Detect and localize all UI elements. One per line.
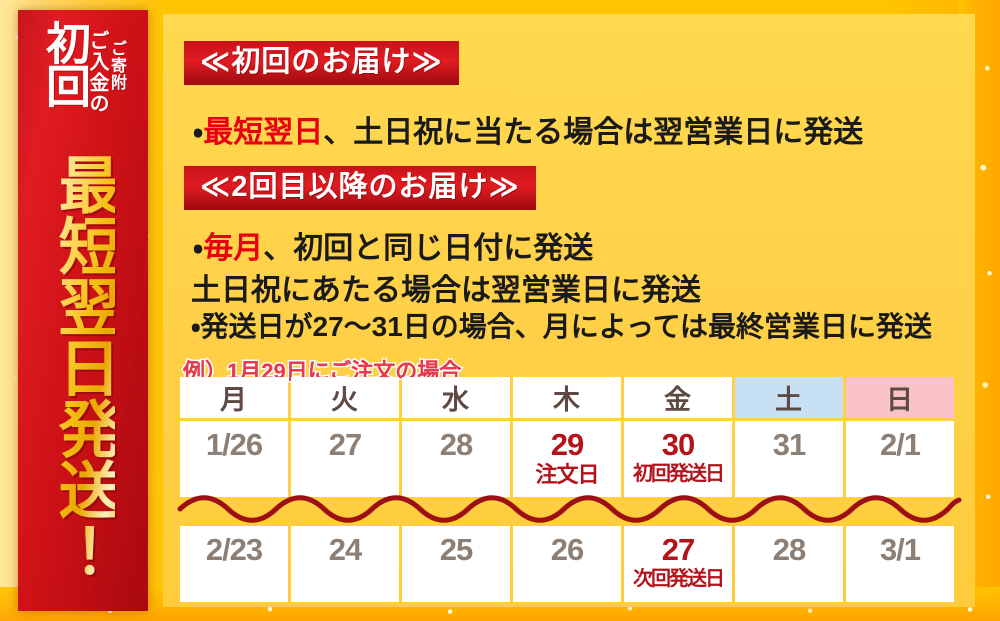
bullet-dot: ・ — [193, 116, 203, 149]
calendar-day-note: 初回発送日 — [633, 463, 723, 485]
calendar-day-number: 28 — [440, 427, 472, 462]
calendar-day-number: 31 — [773, 427, 805, 462]
calendar-day-number: 25 — [440, 532, 472, 567]
calendar-day-number: 2/1 — [880, 427, 920, 462]
calendar-day-number: 27 — [329, 427, 361, 462]
calendar-day-number: 27 — [662, 532, 694, 567]
calendar-day-number: 28 — [773, 532, 805, 567]
bullet-dot: ・ — [193, 232, 203, 265]
calendar-weekday-header: 火 — [291, 377, 399, 418]
calendar-week-row-2: 2/2324252627次回発送日283/1 — [180, 526, 959, 602]
subsequent-delivery-rest: 、初回と同じ日付に発送 — [263, 232, 593, 265]
banner-subheading-payment: ご入金の — [87, 18, 107, 114]
calendar-day-cell: 2/23 — [180, 526, 288, 602]
calendar-day-cell: 29注文日 — [513, 421, 621, 497]
subsequent-delivery-line-2: 土日祝にあたる場合は翌営業日に発送 — [191, 274, 701, 307]
calendar-day-cell: 26 — [513, 526, 621, 602]
subsequent-delivery-line-1: ・毎月、初回と同じ日付に発送 — [193, 232, 593, 265]
calendar-day-cell: 3/1 — [846, 526, 954, 602]
calendar-weekday-header: 土 — [735, 377, 843, 418]
section-tag-subsequent-delivery: ≪2回目以降のお届け≫ — [184, 166, 536, 210]
calendar-day-cell: 28 — [402, 421, 510, 497]
calendar-day-cell: 25 — [402, 526, 510, 602]
calendar-day-cell: 2/1 — [846, 421, 954, 497]
banner-canvas: 初回 ご入金の ご寄附 最短翌日発送！ ≪初回のお届け≫ ・最短翌日、土日祝に当… — [0, 0, 1000, 621]
banner-first-order-kanji: 初回 — [42, 18, 86, 106]
subsequent-delivery-emphasis: 毎月 — [203, 232, 263, 265]
subsequent-delivery-line-3: ・発送日が27〜31日の場合、月によっては最終営業日に発送 — [191, 312, 932, 343]
banner-main-headline-wrap: 最短翌日発送！ — [18, 116, 148, 611]
left-red-banner: 初回 ご入金の ご寄附 最短翌日発送！ — [18, 10, 148, 611]
calendar-weekday-header: 水 — [402, 377, 510, 418]
calendar-weekday-header: 金 — [624, 377, 732, 418]
calendar-day-cell: 31 — [735, 421, 843, 497]
calendar-day-number: 3/1 — [880, 532, 920, 567]
calendar-day-cell: 30初回発送日 — [624, 421, 732, 497]
calendar-weekday-header: 月 — [180, 377, 288, 418]
wavy-divider-icon — [180, 494, 959, 524]
banner-subheading-donation: ご寄附 — [108, 18, 124, 91]
calendar-day-cell: 27次回発送日 — [624, 526, 732, 602]
calendar-day-note: 注文日 — [535, 463, 598, 487]
calendar-weekday-header: 日 — [846, 377, 954, 418]
banner-main-headline: 最短翌日発送！ — [51, 116, 114, 611]
calendar-day-note: 次回発送日 — [633, 568, 723, 590]
calendar-day-number: 24 — [329, 532, 361, 567]
calendar-day-number: 29 — [551, 427, 583, 462]
example-calendar: 月火水木金土日 1/26272829注文日30初回発送日312/1 2/2324… — [180, 377, 959, 602]
first-delivery-rest: 、土日祝に当たる場合は翌営業日に発送 — [323, 116, 863, 149]
banner-subheading-group: 初回 ご入金の ご寄附 — [18, 18, 148, 116]
calendar-day-number: 1/26 — [206, 427, 262, 462]
calendar-day-cell: 1/26 — [180, 421, 288, 497]
calendar-day-cell: 28 — [735, 526, 843, 602]
calendar-day-number: 2/23 — [206, 532, 262, 567]
calendar-day-cell: 27 — [291, 421, 399, 497]
first-delivery-emphasis: 最短翌日 — [203, 116, 323, 149]
calendar-header-row: 月火水木金土日 — [180, 377, 959, 418]
section-tag-first-delivery: ≪初回のお届け≫ — [184, 41, 459, 85]
calendar-week-row-1: 1/26272829注文日30初回発送日312/1 — [180, 421, 959, 497]
calendar-day-number: 30 — [662, 427, 694, 462]
calendar-weekday-header: 木 — [513, 377, 621, 418]
calendar-day-cell: 24 — [291, 526, 399, 602]
first-delivery-detail-line: ・最短翌日、土日祝に当たる場合は翌営業日に発送 — [193, 116, 863, 149]
content-panel: ≪初回のお届け≫ ・最短翌日、土日祝に当たる場合は翌営業日に発送 ≪2回目以降の… — [163, 14, 975, 607]
calendar-day-number: 26 — [551, 532, 583, 567]
